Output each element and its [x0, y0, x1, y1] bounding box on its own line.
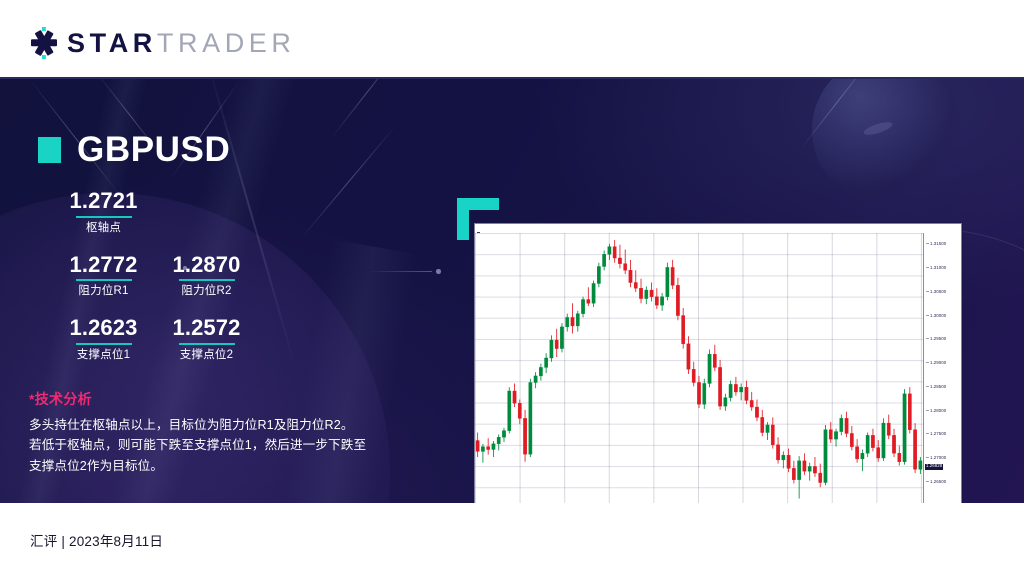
asterisk-star-icon [30, 28, 58, 58]
level-value: 1.2572 [155, 316, 258, 341]
planet-decoration [812, 79, 962, 205]
price-tick-label: 1.31000 [926, 266, 946, 270]
brand-wordmark-star: STAR [67, 28, 157, 58]
level-label: 支撑点位1 [52, 349, 155, 363]
level-value: 1.2772 [52, 253, 155, 278]
candlestick-series [475, 233, 923, 503]
level-underline [76, 343, 132, 345]
page-title: GBPUSD [77, 132, 230, 167]
price-axis: 1.315001.310001.305001.300001.295001.290… [923, 233, 961, 503]
analysis-line: 多头持仕在枢轴点以上，目标位为阻力位R1及阻力位R2。 [29, 415, 407, 435]
instrument-header: GBPUSD [38, 132, 230, 167]
level-row-support: 1.2623 支撑点位1 1.2572 支撑点位2 [52, 316, 352, 380]
brand-logo[interactable]: STARTRADER [30, 28, 296, 58]
dot-decoration [436, 269, 441, 274]
analysis-line: 支撑点位2作为目标位。 [29, 456, 407, 476]
level-support-1: 1.2623 支撑点位1 [52, 316, 155, 363]
brand-wordmark: STARTRADER [67, 30, 296, 57]
footer-caption: 汇评 | 2023年8月11日 [30, 530, 163, 550]
chart-plot-area[interactable] [475, 233, 923, 503]
analysis-body: 多头持仕在枢轴点以上，目标位为阻力位R1及阻力位R2。 若低于枢轴点，则可能下跌… [29, 415, 407, 476]
technical-analysis: *技术分析 多头持仕在枢轴点以上，目标位为阻力位R1及阻力位R2。 若低于枢轴点… [29, 389, 407, 476]
current-price-label: 1.26828 [925, 464, 943, 470]
chart-window[interactable]: GBPUSD,H4 1.26833 1.26901 1.26715 1.2682… [474, 223, 962, 503]
analysis-heading: *技术分析 [29, 389, 407, 409]
level-label: 阻力位R2 [155, 285, 258, 299]
price-tick-label: 1.26500 [926, 480, 946, 484]
level-row-resistance: 1.2772 阻力位R1 1.2870 阻力位R2 [52, 253, 352, 317]
price-tick-label: 1.31500 [926, 242, 946, 246]
price-tick-label: 1.30500 [926, 290, 946, 294]
content-stage: GBPUSD 1.2721 枢轴点 1.2772 阻力位R1 1.2870 阻力… [0, 79, 1024, 503]
level-underline [76, 216, 132, 218]
accent-swatch [38, 137, 61, 163]
price-levels: 1.2721 枢轴点 1.2772 阻力位R1 1.2870 阻力位R2 1.2… [52, 189, 352, 380]
price-tick-label: 1.30000 [926, 314, 946, 318]
analysis-line: 若低于枢轴点，则可能下跌至支撑点位1，然后进一步下跌至 [29, 435, 407, 455]
level-resistance-1: 1.2772 阻力位R1 [52, 253, 155, 300]
price-tick-label: 1.28000 [926, 409, 946, 413]
page-header: STARTRADER [0, 0, 1024, 78]
brand-wordmark-trader: TRADER [157, 28, 296, 58]
level-underline [179, 343, 235, 345]
page-footer: 汇评 | 2023年8月11日 [0, 503, 1024, 576]
level-label: 支撑点位2 [155, 349, 258, 363]
level-label: 阻力位R1 [52, 285, 155, 299]
price-tick-label: 1.27000 [926, 456, 946, 460]
level-underline [76, 279, 132, 281]
level-value: 1.2623 [52, 316, 155, 341]
price-tick-label: 1.29500 [926, 337, 946, 341]
streak-decoration [330, 79, 405, 140]
level-value: 1.2870 [155, 253, 258, 278]
level-resistance-2: 1.2870 阻力位R2 [155, 253, 258, 300]
chart-titlebar: GBPUSD,H4 1.26833 1.26901 1.26715 1.2682… [475, 224, 961, 233]
level-label: 枢轴点 [52, 222, 155, 236]
price-tick-label: 1.28500 [926, 385, 946, 389]
level-value: 1.2721 [52, 189, 155, 214]
level-row-pivot: 1.2721 枢轴点 [52, 189, 352, 253]
price-tick-label: 1.27500 [926, 432, 946, 436]
level-underline [179, 279, 235, 281]
price-tick-label: 1.29000 [926, 361, 946, 365]
level-pivot: 1.2721 枢轴点 [52, 189, 155, 236]
level-support-2: 1.2572 支撑点位2 [155, 316, 258, 363]
hairline-decoration [368, 271, 432, 272]
